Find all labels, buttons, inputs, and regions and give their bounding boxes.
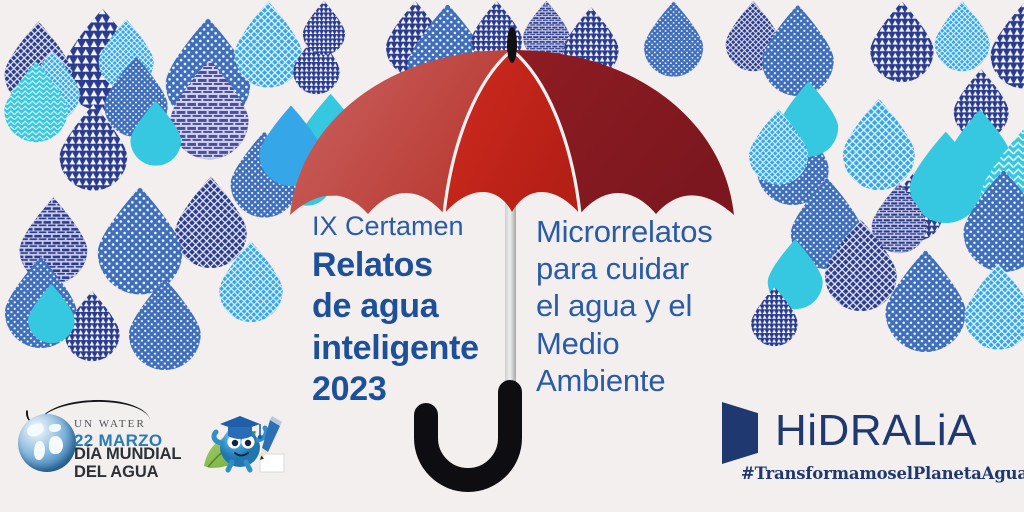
headline-left-line-2: de agua [312, 286, 479, 327]
un-water-logo: UN WATER 22 MARZO DÍA MUNDIAL DEL AGUA [14, 398, 194, 474]
headline-left: IX Certamen Relatos de agua inteligente … [312, 212, 479, 410]
headline-left-line-3: inteligente [312, 328, 479, 369]
headline-right-line-4: Medio [536, 325, 766, 362]
un-water-title-line-1: DÍA MUNDIAL [74, 446, 181, 464]
globe-icon [18, 414, 76, 472]
headline-right: Microrrelatos para cuidar el agua y el M… [536, 213, 766, 399]
headline-right-line-3: el agua y el [536, 287, 766, 324]
hidralia-logo: HiDRALiA #TransformamoselPlanetaAgua [722, 400, 1002, 488]
hidralia-hashtag: #TransformamoselPlanetaAgua [741, 464, 1024, 483]
headline-left-line-1: Relatos [312, 245, 479, 286]
un-water-org-label: UN WATER [74, 418, 146, 430]
headline-right-line-1: Microrrelatos [536, 213, 766, 250]
un-water-title-line-2: DEL AGUA [74, 464, 181, 482]
hidralia-wordmark: HiDRALiA [775, 406, 977, 456]
water-drop-student-mascot-icon [198, 398, 288, 474]
hidralia-mark-icon [722, 402, 758, 464]
headline-right-line-5: Ambiente [536, 362, 766, 399]
headline-left-line-4: 2023 [312, 369, 479, 410]
eyebrow-text: IX Certamen [312, 212, 479, 241]
un-water-title-label: DÍA MUNDIAL DEL AGUA [74, 446, 181, 482]
poster-canvas: IX Certamen Relatos de agua inteligente … [0, 0, 1024, 512]
headline-right-line-2: para cuidar [536, 250, 766, 287]
